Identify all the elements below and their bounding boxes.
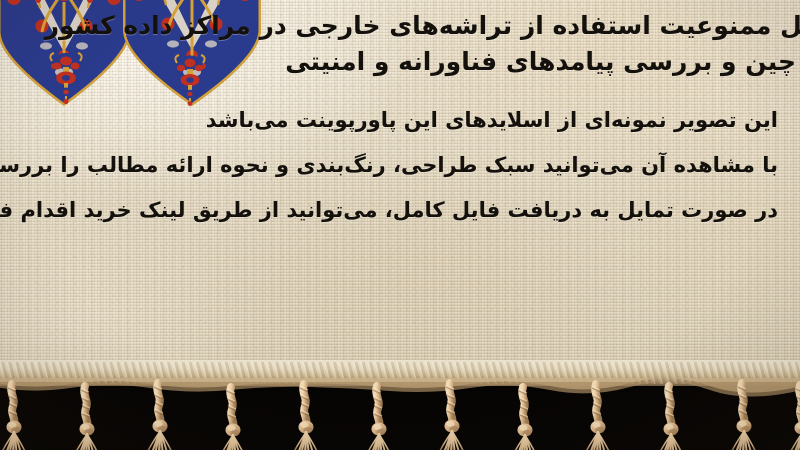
body-line-3: در صورت تمایل به دریافت فایل کامل، می‌تو… (18, 198, 778, 222)
title-line-2: چین و بررسی پیامدهای فناورانه و امنیتی (0, 44, 796, 80)
fringe-knots-group (0, 360, 800, 450)
title-line-1: لیل ممنوعیت استفاده از تراشه‌های خارجی د… (0, 8, 800, 44)
carpet-fringe-zone (0, 360, 800, 450)
body-line-1: این تصویر نمونه‌ای از اسلایدهای این پاور… (18, 108, 778, 132)
text-layer: لیل ممنوعیت استفاده از تراشه‌های خارجی د… (0, 0, 800, 382)
slide-canvas: لیل ممنوعیت استفاده از تراشه‌های خارجی د… (0, 0, 800, 450)
slide-title: لیل ممنوعیت استفاده از تراشه‌های خارجی د… (0, 8, 796, 80)
slide-body: این تصویر نمونه‌ای از اسلایدهای این پاور… (18, 108, 778, 222)
body-line-2: با مشاهده آن می‌توانید سبک طراحی، رنگ‌بن… (18, 153, 778, 177)
